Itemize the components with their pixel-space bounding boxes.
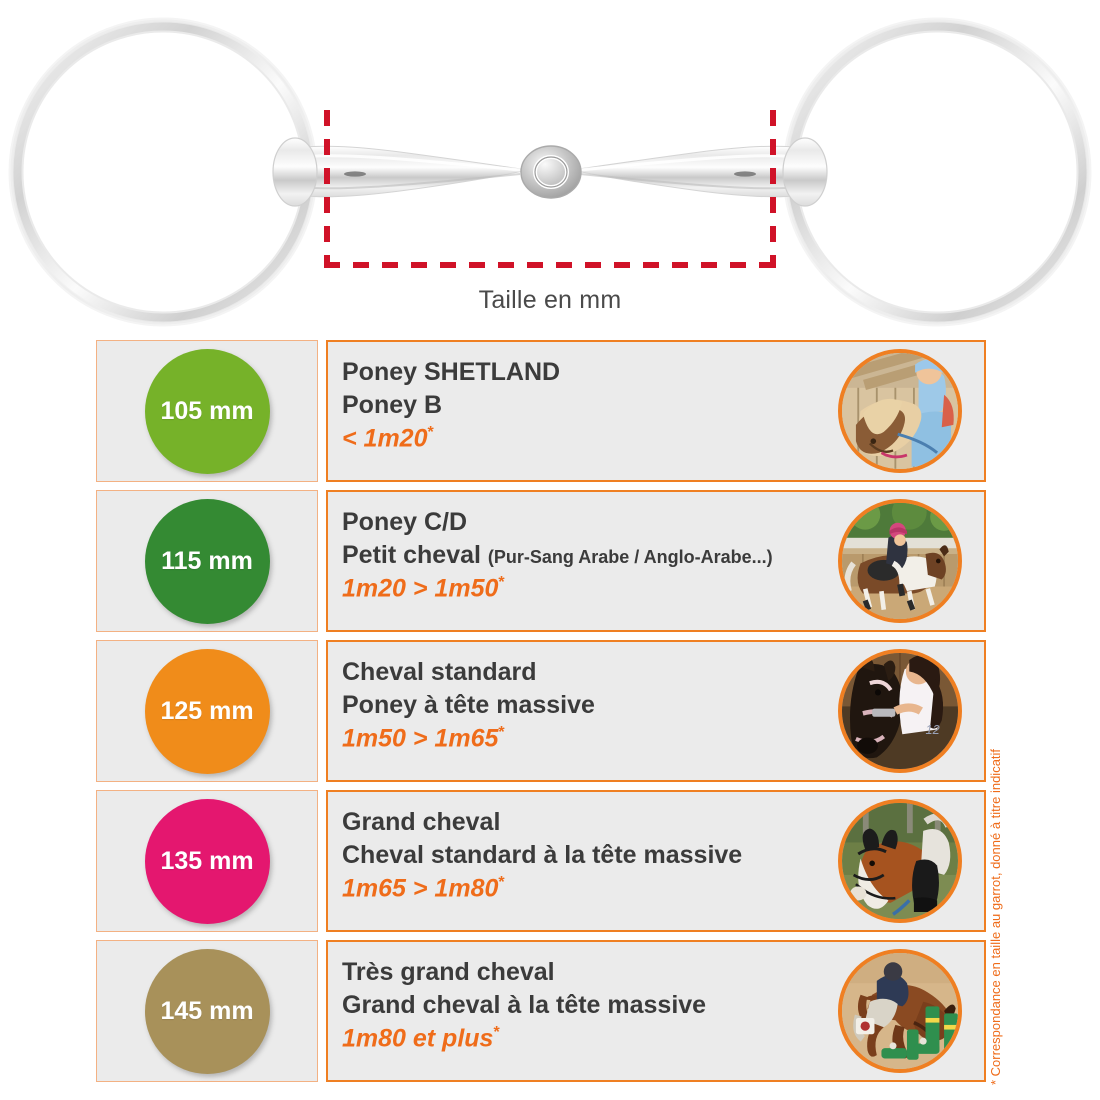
size-cell: 115 mm: [96, 490, 318, 632]
bit-measurement-diagram: Taille en mm: [0, 0, 1100, 335]
description-line-2-text: Poney B: [342, 391, 442, 419]
description-line-2-note: (Pur-Sang Arabe / Anglo-Arabe...): [488, 547, 773, 567]
bit-center-joint: [521, 146, 581, 198]
table-row: 105 mm Poney SHETLAND Poney B < 1m20*: [96, 340, 986, 482]
diagram-caption: Taille en mm: [0, 286, 1100, 315]
description-line-2-text: Cheval standard à la tête massive: [342, 841, 742, 869]
bit-ring-left: [11, 20, 315, 324]
description-cell: Poney SHETLAND Poney B < 1m20*: [326, 340, 986, 482]
child-with-shetland-pony-image: [842, 353, 958, 469]
bit-ring-right: [785, 20, 1089, 324]
chestnut-horse-with-ear-bonnet-image: [842, 803, 958, 919]
row-photo: 12: [838, 649, 962, 773]
footnote-star: *: [493, 1024, 499, 1041]
height-range-text: < 1m20: [342, 424, 428, 452]
height-range-text: 1m80 et plus: [342, 1024, 493, 1052]
height-range-text: 1m65 > 1m80: [342, 874, 498, 902]
size-badge: 125 mm: [145, 649, 270, 774]
svg-text:12: 12: [926, 722, 940, 737]
size-badge: 115 mm: [145, 499, 270, 624]
footnote-star: *: [498, 874, 504, 891]
size-correspondence-table: 105 mm Poney SHETLAND Poney B < 1m20*: [96, 340, 986, 1082]
row-photo: [838, 349, 962, 473]
row-photo: [838, 799, 962, 923]
row-photo: [838, 949, 962, 1073]
description-line-2-text: Grand cheval à la tête massive: [342, 991, 706, 1019]
row-photo: [838, 499, 962, 623]
footnote-star: *: [498, 574, 504, 591]
table-row: 145 mm Très grand cheval Grand cheval à …: [96, 940, 986, 1082]
table-row: 135 mm Grand cheval Cheval standard à la…: [96, 790, 986, 932]
vertical-footnote: * Correspondance en taille au garrot, do…: [988, 655, 1003, 1085]
description-line-2-text: Petit cheval: [342, 541, 481, 569]
infographic-page: Taille en mm 105 mm Poney SHETLAND Poney…: [0, 0, 1100, 1100]
size-cell: 145 mm: [96, 940, 318, 1082]
footnote-star: *: [428, 424, 434, 441]
size-badge: 145 mm: [145, 949, 270, 1074]
rider-on-pinto-pony-image: [842, 503, 958, 619]
size-cell: 125 mm: [96, 640, 318, 782]
description-cell: Grand cheval Cheval standard à la tête m…: [326, 790, 986, 932]
description-cell: Très grand cheval Grand cheval à la tête…: [326, 940, 986, 1082]
size-cell: 135 mm: [96, 790, 318, 932]
bit-mouthpiece-right: [572, 138, 827, 206]
size-badge: 135 mm: [145, 799, 270, 924]
horse-jumping-green-oxer-image: [842, 953, 958, 1069]
description-cell: Poney C/D Petit cheval (Pur-Sang Arabe /…: [326, 490, 986, 632]
footnote-star: *: [498, 724, 504, 741]
description-line-2-text: Poney à tête massive: [342, 691, 595, 719]
height-range-text: 1m20 > 1m50: [342, 574, 498, 602]
woman-with-dark-bay-horse-image: 12: [842, 653, 958, 769]
bit-mouthpiece-left: [273, 138, 528, 206]
description-cell: Cheval standard Poney à tête massive 1m5…: [326, 640, 986, 782]
size-cell: 105 mm: [96, 340, 318, 482]
table-row: 115 mm Poney C/D Petit cheval (Pur-Sang …: [96, 490, 986, 632]
size-badge: 105 mm: [145, 349, 270, 474]
height-range-text: 1m50 > 1m65: [342, 724, 498, 752]
bit-illustration: [0, 0, 1100, 335]
table-row: 125 mm Cheval standard Poney à tête mass…: [96, 640, 986, 782]
